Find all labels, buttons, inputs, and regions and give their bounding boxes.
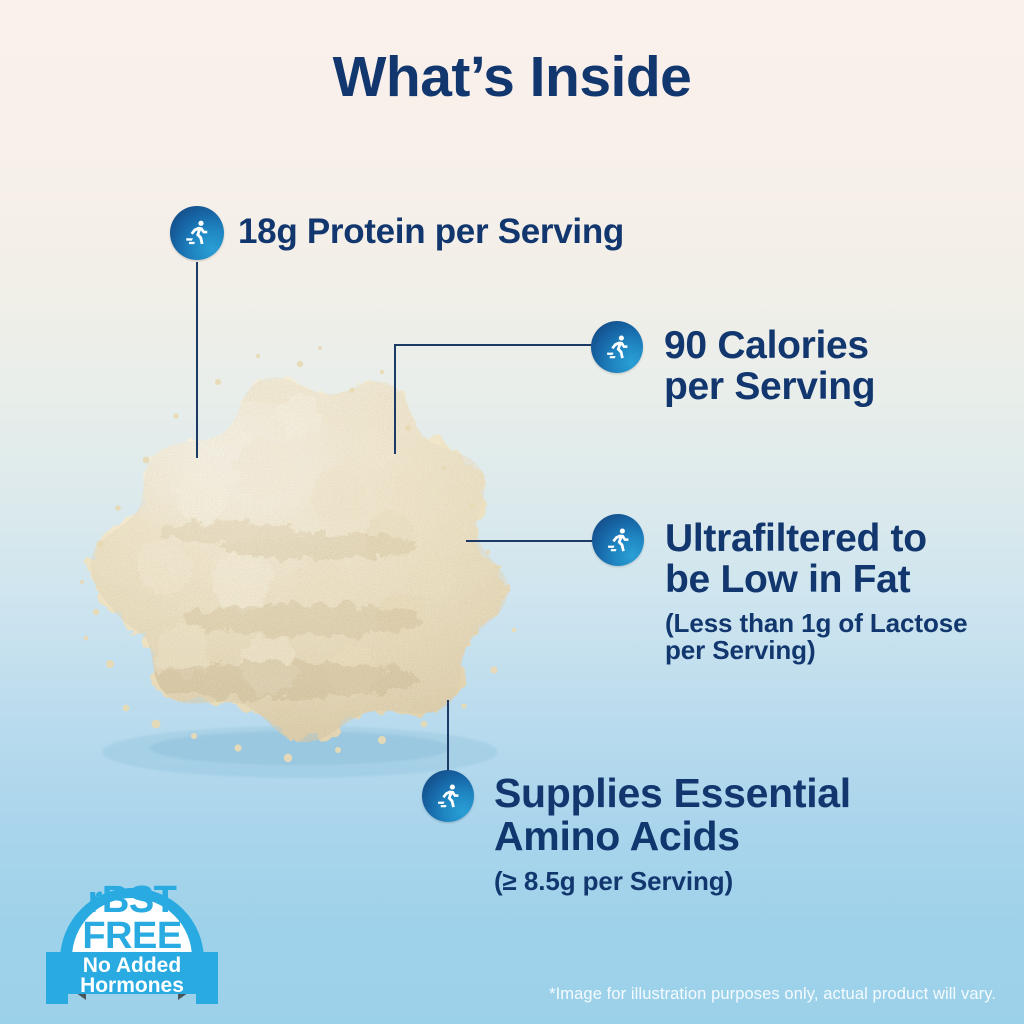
callout-text-calories: 90 Calories per Serving [664,325,875,408]
callout-main-calories: 90 Calories per Serving [664,325,875,408]
callout-main-ultrafiltered: Ultrafiltered to be Low in Fat [665,518,967,601]
running-person-icon [604,526,633,555]
product-powder-image [52,320,542,790]
leader-line-ultrafiltered [466,540,594,542]
callout-text-protein: 18g Protein per Serving [238,213,624,250]
callout-text-amino-acids: Supplies Essential Amino Acids (≥ 8.5g p… [494,772,851,895]
infographic-canvas: What’s Inside [0,0,1024,1024]
rbst-free-badge: rBST FREE No Added Hormones [44,848,220,1004]
callout-text-ultrafiltered: Ultrafiltered to be Low in Fat (Less tha… [665,518,967,665]
leader-line-protein [196,262,198,458]
callout-sub-ultrafiltered: (Less than 1g of Lactose per Serving) [665,610,967,665]
running-person-icon [182,218,212,248]
callout-main-amino-acids: Supplies Essential Amino Acids [494,772,851,859]
rbst-ribbon-line2: Hormones [80,974,184,997]
callout-sub-amino-acids: (≥ 8.5g per Serving) [494,868,851,896]
leader-line-calories-vertical [394,344,396,454]
leader-line-calories-horizontal [394,344,594,346]
rbst-line2: FREE [82,915,181,957]
callout-badge-protein[interactable] [170,206,224,260]
running-person-icon [603,333,632,362]
callout-badge-ultrafiltered[interactable] [592,514,644,566]
disclaimer-text: *Image for illustration purposes only, a… [549,985,996,1004]
leader-line-amino-acids [447,700,449,778]
page-title: What’s Inside [0,44,1024,110]
callout-badge-amino-acids[interactable] [422,770,474,822]
callout-badge-calories[interactable] [591,321,643,373]
callout-main-protein: 18g Protein per Serving [238,213,624,250]
running-person-icon [434,782,463,811]
